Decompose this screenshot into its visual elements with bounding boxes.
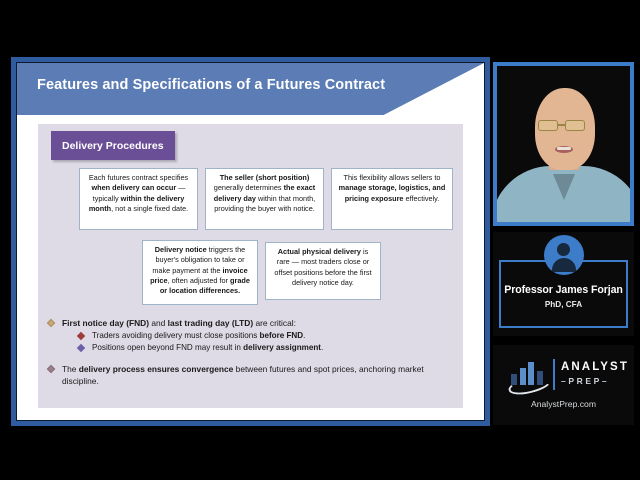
slide-content-panel: Delivery Procedures Each futures contrac… <box>38 124 463 408</box>
screenshot-root: Features and Specifications of a Futures… <box>0 0 640 480</box>
presenter-name: Professor James Forjan <box>493 284 634 296</box>
diamond-bullet-icon <box>77 332 85 340</box>
bullet-item: Positions open beyond FND may result in … <box>76 342 455 354</box>
bullet-item: First notice day (FND) and last trading … <box>46 317 455 329</box>
brand-panel: ANALYST –PREP– AnalystPrep.com <box>493 345 634 425</box>
bullet-text: The delivery process ensures convergence… <box>62 364 424 386</box>
analystprep-logo: ANALYST –PREP– <box>511 359 619 391</box>
presenter-video-thumbnail[interactable] <box>493 62 634 226</box>
presenter-info-panel: Professor James Forjan PhD, CFA <box>493 232 634 336</box>
section-tab-delivery-procedures: Delivery Procedures <box>51 131 175 160</box>
fact-box: Each futures contract specifies when del… <box>79 168 198 230</box>
fact-box: This flexibility allows sellers to manag… <box>331 168 453 230</box>
bullet-text: First notice day (FND) and last trading … <box>62 318 296 328</box>
slide-frame: Features and Specifications of a Futures… <box>11 57 490 426</box>
slide-canvas: Features and Specifications of a Futures… <box>16 62 485 421</box>
logo-divider <box>553 359 555 390</box>
bullet-item: Traders avoiding delivery must close pos… <box>76 330 455 342</box>
glasses-icon <box>538 120 558 131</box>
logo-text-primary: ANALYST <box>561 361 629 373</box>
glasses-bridge <box>558 124 565 126</box>
fact-box: Delivery notice triggers the buyer's obl… <box>142 240 258 305</box>
bullet-text: Positions open beyond FND may result in … <box>92 343 323 352</box>
bullet-list: First notice day (FND) and last trading … <box>46 317 455 389</box>
presenter-teeth <box>557 147 571 150</box>
diamond-bullet-icon <box>47 319 55 327</box>
section-tab-label: Delivery Procedures <box>62 140 164 152</box>
fact-box: Actual physical delivery is rare — most … <box>265 242 381 300</box>
fact-box: The seller (short position) generally de… <box>205 168 324 230</box>
avatar-body-shape <box>552 258 576 272</box>
slide-title: Features and Specifications of a Futures… <box>37 77 385 93</box>
bullet-item: The delivery process ensures convergence… <box>46 363 455 387</box>
diamond-bullet-icon <box>77 344 85 352</box>
glasses-icon <box>565 120 585 131</box>
logo-text-secondary: –PREP– <box>561 376 609 386</box>
avatar-head-shape <box>557 243 570 256</box>
brand-url: AnalystPrep.com <box>493 399 634 409</box>
user-avatar-icon <box>544 235 584 275</box>
bullet-text: Traders avoiding delivery must close pos… <box>92 331 305 340</box>
presenter-credentials: PhD, CFA <box>493 300 634 309</box>
diamond-bullet-icon <box>47 365 55 373</box>
